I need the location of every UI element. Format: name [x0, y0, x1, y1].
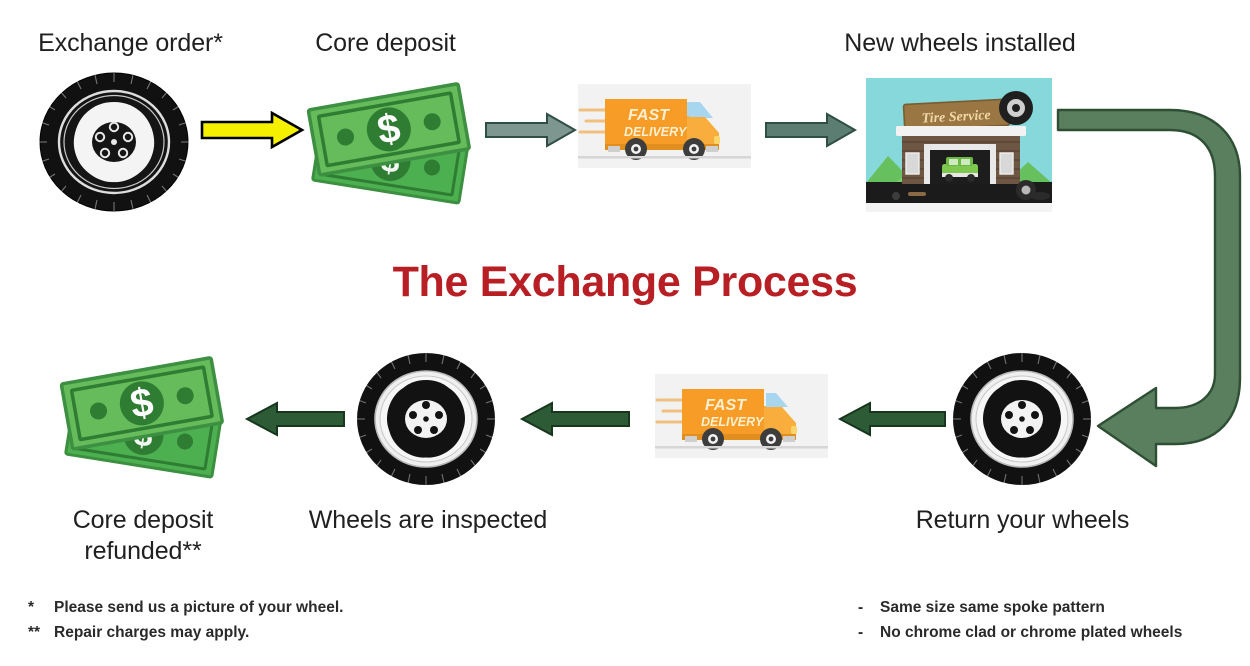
cash-icon: $ $	[305, 78, 477, 203]
footnote-text: Repair charges may apply.	[54, 624, 249, 641]
label-new-wheels-installed: New wheels installed	[800, 28, 1120, 59]
footnote-right-1: -Same size same spoke pattern	[858, 595, 1182, 620]
arrow-left-green-icon	[838, 400, 946, 438]
icon-cash-refund: $ $	[58, 352, 230, 477]
arrow-inspect-to-refund	[245, 400, 345, 438]
label-wheels-inspected: Wheels are inspected	[288, 505, 568, 536]
icon-wheel-inspected	[356, 352, 496, 486]
arrow-shipping-to-inspect	[520, 400, 630, 438]
footnote-marker: -	[858, 620, 880, 645]
icon-wheel-return	[952, 352, 1092, 486]
footnote-text: Please send us a picture of your wheel.	[54, 599, 343, 616]
delivery-truck-icon: FAST DELIVERY	[655, 374, 828, 458]
label-return-your-wheels: Return your wheels	[890, 505, 1155, 536]
wheel-light-icon	[952, 352, 1092, 486]
footnote-text: Same size same spoke pattern	[880, 599, 1105, 616]
arrow-shipping-to-install	[765, 112, 857, 148]
truck-text-fast: FAST	[628, 107, 670, 124]
icon-tire-service-shop: Tire Service	[866, 78, 1052, 212]
label-exchange-order: Exchange order*	[8, 28, 253, 59]
delivery-truck-icon: FAST DELIVERY	[578, 84, 751, 168]
wheel-dark-icon	[38, 72, 190, 212]
icon-cash-deposit: $ $	[305, 78, 477, 203]
exchange-process-diagram: Exchange order* Core deposit New wheels …	[0, 0, 1250, 666]
arrow-right-slate-icon	[485, 112, 577, 148]
icon-wheel-dark	[38, 72, 190, 212]
truck-text-fast: FAST	[705, 397, 747, 414]
footnote-left-1: *Please send us a picture of your wheel.	[28, 595, 343, 620]
footnotes-left: *Please send us a picture of your wheel.…	[28, 595, 343, 645]
icon-delivery-truck-out: FAST DELIVERY	[578, 84, 751, 168]
arrow-return-to-shipping	[838, 400, 946, 438]
footnote-marker: *	[28, 595, 54, 620]
wheel-light-icon	[356, 352, 496, 486]
arrow-exchange-to-deposit	[200, 110, 305, 150]
tire-service-shop-icon: Tire Service	[866, 78, 1052, 212]
truck-text-delivery: DELIVERY	[701, 415, 765, 429]
label-core-deposit: Core deposit	[278, 28, 493, 59]
arrow-left-green-icon	[245, 400, 345, 438]
footnote-right-2: -No chrome clad or chrome plated wheels	[858, 620, 1182, 645]
footnote-text: No chrome clad or chrome plated wheels	[880, 624, 1182, 641]
icon-delivery-truck-back: FAST DELIVERY	[655, 374, 828, 458]
page-title: The Exchange Process	[0, 258, 1250, 307]
arrow-left-green-icon	[520, 400, 630, 438]
label-core-deposit-refunded: Core deposit refunded**	[18, 505, 268, 567]
arrow-right-yellow-icon	[200, 110, 305, 150]
footnotes-right: -Same size same spoke pattern -No chrome…	[858, 595, 1182, 645]
footnote-marker: **	[28, 620, 54, 645]
footnote-marker: -	[858, 595, 880, 620]
arrow-right-slate-icon	[765, 112, 857, 148]
arrow-deposit-to-shipping	[485, 112, 577, 148]
cash-icon: $ $	[58, 352, 230, 477]
truck-text-delivery: DELIVERY	[624, 125, 688, 139]
footnote-left-2: **Repair charges may apply.	[28, 620, 343, 645]
